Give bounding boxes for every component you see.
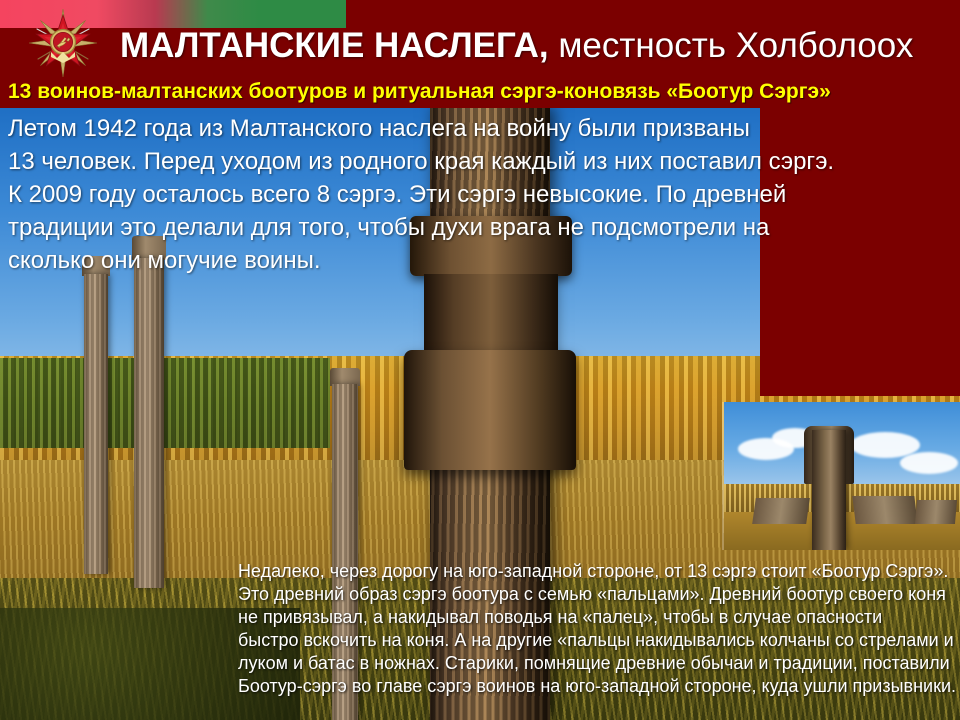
wooden-fence (752, 498, 810, 524)
caption-line: Недалеко, через дорогу на юго-западной с… (238, 560, 960, 583)
caption-line: луком и батас в ножнах. Старики, помнящи… (238, 652, 960, 675)
serge-post-far (84, 274, 108, 574)
body-line: 13 человек. Перед уходом из родного края… (8, 145, 778, 178)
body-line: Летом 1942 года из Малтанского наслега н… (8, 112, 778, 145)
body-line: сколько они могучие воины. (8, 244, 778, 277)
serge-post-mid (134, 258, 164, 588)
caption-line: Боотур-сэргэ во главе сэргэ воинов на юг… (238, 675, 960, 698)
header-bar: МАЛТАНСКИЕ НАСЛЕГА, местность Холболоох … (0, 0, 960, 108)
body-paragraph: Летом 1942 года из Малтанского наслега н… (8, 112, 778, 277)
caption-line: быстро вскочить на коня. А на другие «па… (238, 629, 960, 652)
wooden-fence (915, 500, 957, 524)
bottom-caption: Недалеко, через дорогу на юго-западной с… (238, 560, 960, 698)
order-of-patriotic-war-medal-icon (26, 6, 100, 80)
slide-canvas: МАЛТАНСКИЕ НАСЛЕГА, местность Холболоох … (0, 0, 960, 720)
dark-forest-left (0, 358, 330, 448)
page-subtitle: 13 воинов-малтанских боотуров и ритуальн… (8, 80, 952, 104)
page-title: МАЛТАНСКИЕ НАСЛЕГА, местность Холболоох (120, 22, 956, 70)
caption-line: Это древний образ сэргэ боотура с семью … (238, 583, 960, 606)
body-line: К 2009 году осталось всего 8 сэргэ. Эти … (8, 178, 778, 211)
cloud-shape (900, 452, 958, 474)
inset-photo (722, 402, 960, 550)
title-light-text: местность Холболоох (549, 26, 914, 65)
main-post-waist (424, 274, 558, 354)
gradient-strip (0, 0, 346, 28)
inset-bootur-post (812, 430, 846, 550)
main-post-base (404, 350, 576, 470)
wooden-fence (852, 496, 917, 524)
caption-line: не привязывал, а накидывал поводья на «п… (238, 606, 960, 629)
body-line: традиции это делали для того, чтобы духи… (8, 211, 778, 244)
title-strong-text: МАЛТАНСКИЕ НАСЛЕГА, (120, 26, 549, 65)
